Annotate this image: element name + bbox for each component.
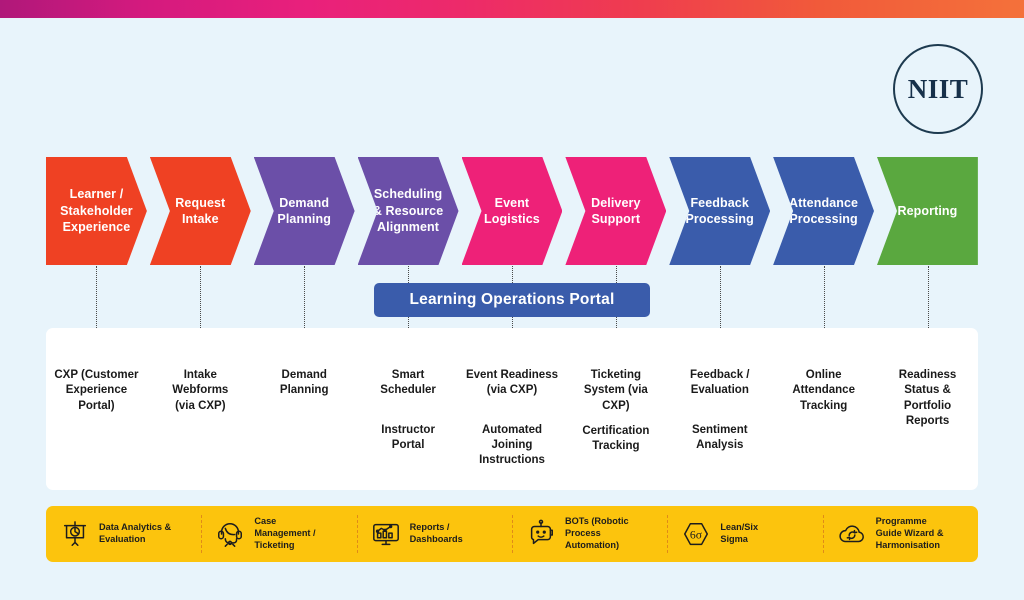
process-stage-6[interactable]: DeliverySupport [565,157,666,265]
detail-primary: TicketingSystem (viaCXP) [558,368,673,414]
detail-column-8: OnlineAttendanceTracking [766,368,881,414]
process-stage-label: FeedbackProcessing [679,195,759,228]
headset-agent-icon [215,519,245,549]
tool-item-2[interactable]: CaseManagement /Ticketing [201,506,356,562]
process-stage-1[interactable]: Learner /StakeholderExperience [46,157,147,265]
process-stage-label: Learner /StakeholderExperience [54,186,139,236]
detail-primary: ReadinessStatus &PortfolioReports [870,368,985,429]
learning-operations-portal-pill[interactable]: Learning Operations Portal [374,283,650,317]
logo-text: NIIT [908,74,969,105]
connector-line-5 [512,266,513,283]
detail-column-7: Feedback /EvaluationSentimentAnalysis [662,368,777,453]
process-stage-9[interactable]: Reporting [877,157,978,265]
process-stage-label: RequestIntake [169,195,231,228]
tool-item-3[interactable]: Reports /Dashboards [357,506,512,562]
process-stage-5[interactable]: EventLogistics [462,157,563,265]
process-stage-label: AttendanceProcessing [783,195,864,228]
process-stage-label: DeliverySupport [585,195,646,228]
top-gradient-bar [0,0,1024,18]
tool-item-6[interactable]: ProgrammeGuide Wizard &Harmonisation [823,506,978,562]
process-stage-2[interactable]: RequestIntake [150,157,251,265]
process-stage-label: DemandPlanning [271,195,337,228]
tool-item-1[interactable]: Data Analytics &Evaluation [46,506,201,562]
robot-icon [526,519,556,549]
enablers-toolbar: Data Analytics &EvaluationCaseManagement… [46,506,978,562]
detail-primary: Event Readiness(via CXP) [455,368,570,399]
process-stage-label: Scheduling& ResourceAlignment [367,186,449,236]
detail-secondary: InstructorPortal [351,423,466,454]
tool-item-4[interactable]: BOTs (RoboticProcessAutomation) [512,506,667,562]
monitor-bar-chart-icon [371,519,401,549]
niit-logo: NIIT [893,44,983,134]
detail-column-1: CXP (CustomerExperiencePortal) [39,368,154,414]
detail-primary: SmartScheduler [351,368,466,399]
process-chevron-band: Learner /StakeholderExperienceRequestInt… [46,157,978,265]
presentation-chart-icon [60,519,90,549]
cloud-sync-icon [837,519,867,549]
connector-line-6 [616,266,617,283]
process-stage-3[interactable]: DemandPlanning [254,157,355,265]
detail-primary: CXP (CustomerExperiencePortal) [39,368,154,414]
process-stage-label: EventLogistics [478,195,546,228]
detail-primary: Feedback /Evaluation [662,368,777,399]
detail-secondary: AutomatedJoiningInstructions [455,423,570,469]
process-stage-label: Reporting [891,203,963,220]
detail-primary: IntakeWebforms(via CXP) [143,368,258,414]
process-stage-8[interactable]: AttendanceProcessing [773,157,874,265]
connector-line-4 [408,266,409,283]
detail-column-9: ReadinessStatus &PortfolioReports [870,368,985,429]
detail-primary: DemandPlanning [247,368,362,399]
infographic-page: NIIT Learner /StakeholderExperienceReque… [0,0,1024,600]
detail-column-5: Event Readiness(via CXP)AutomatedJoining… [455,368,570,468]
svg-text:6σ: 6σ [690,529,703,542]
six-sigma-hexagon-icon: 6σ [681,519,711,549]
tool-label: Lean/SixSigma [720,522,758,546]
tool-label: CaseManagement /Ticketing [254,516,315,552]
tool-item-5[interactable]: 6σLean/SixSigma [667,506,822,562]
detail-column-2: IntakeWebforms(via CXP) [143,368,258,414]
detail-secondary: SentimentAnalysis [662,423,777,454]
detail-column-4: SmartSchedulerInstructorPortal [351,368,466,453]
process-stage-7[interactable]: FeedbackProcessing [669,157,770,265]
process-stage-4[interactable]: Scheduling& ResourceAlignment [358,157,459,265]
portal-label: Learning Operations Portal [409,291,614,309]
tool-label: ProgrammeGuide Wizard &Harmonisation [876,516,944,552]
detail-secondary: CertificationTracking [558,424,673,455]
detail-primary: OnlineAttendanceTracking [766,368,881,414]
detail-column-6: TicketingSystem (viaCXP)CertificationTra… [558,368,673,454]
tool-label: Data Analytics &Evaluation [99,522,171,546]
tool-label: BOTs (RoboticProcessAutomation) [565,516,629,552]
tool-label: Reports /Dashboards [410,522,463,546]
detail-column-3: DemandPlanning [247,368,362,399]
